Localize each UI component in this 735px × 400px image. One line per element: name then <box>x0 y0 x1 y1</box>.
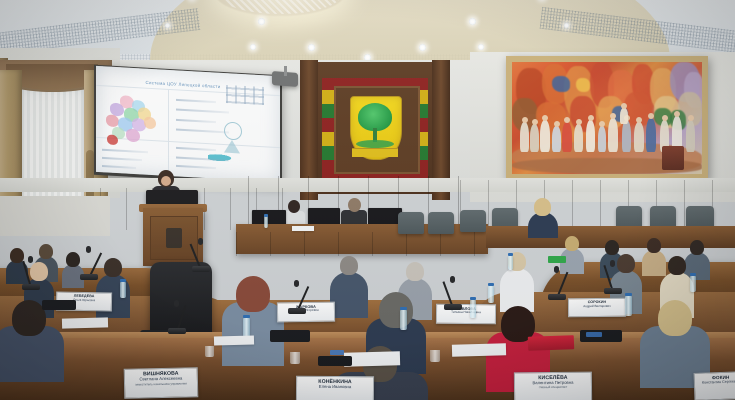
water-bottle <box>120 282 126 298</box>
desk-microphone <box>554 266 559 273</box>
nameplate: ВИШНЯКОВА Светлана Алексеевна заместител… <box>124 367 199 399</box>
delegate-head <box>605 240 619 255</box>
painted-figure-head <box>522 117 528 123</box>
office-chair <box>460 210 486 232</box>
painted-figure-head <box>636 117 642 123</box>
document-sheet <box>292 226 314 231</box>
painted-figure <box>574 124 583 152</box>
tablet-device <box>42 300 76 310</box>
document-sheet <box>214 335 254 345</box>
bottle-cap <box>400 307 407 310</box>
painted-figure-head <box>599 121 605 127</box>
delegate-head <box>236 276 270 312</box>
delegate-head <box>565 236 579 251</box>
nameplate: ФОКИН Константин Сергеевич <box>694 371 735 400</box>
painted-figure-head <box>662 115 668 121</box>
desk-microphone <box>28 256 33 263</box>
painted-figure-head <box>542 115 548 121</box>
bottle-cap <box>470 297 476 300</box>
shield-scroll <box>352 148 398 157</box>
microphone-base <box>168 328 186 334</box>
map-region <box>106 114 119 127</box>
document-sheet <box>62 317 108 328</box>
map-region <box>126 129 140 143</box>
delegate-head <box>66 252 80 267</box>
delegate-head <box>379 292 413 328</box>
microphone-base <box>288 308 306 314</box>
painted-figure-head <box>576 119 582 125</box>
tablet-device <box>318 356 352 366</box>
document-sheet <box>452 343 506 356</box>
desk-microphone <box>86 246 91 253</box>
delegate-torso <box>330 272 368 318</box>
painted-figure <box>520 122 529 152</box>
office-chair <box>650 206 676 228</box>
presidium-person-left-head <box>288 200 300 213</box>
painted-figure <box>598 126 606 152</box>
linden-tree-crown-icon <box>358 103 392 131</box>
map-region <box>107 134 118 145</box>
microphone-base <box>192 266 210 272</box>
office-chair <box>428 212 454 234</box>
regional-map-diagram <box>104 92 164 147</box>
delegate-head <box>617 254 635 273</box>
podium-emblem <box>166 228 182 248</box>
painted-figure-head <box>564 117 570 123</box>
bottle-cap <box>508 253 513 256</box>
water-bottle <box>264 216 268 228</box>
painted-figure-head <box>554 121 560 127</box>
delegate-head <box>104 258 122 277</box>
desk-microphone <box>450 276 455 283</box>
microphone-base <box>548 294 566 300</box>
painted-figure <box>634 122 644 152</box>
drinking-glass <box>430 350 440 362</box>
conference-hall-photo: Система ЦОУ Липецкой области <box>0 0 735 400</box>
painted-figure <box>646 118 656 152</box>
projector-mount <box>284 66 287 76</box>
delegate-head <box>658 300 692 336</box>
painted-figure <box>562 122 572 152</box>
abstract-expressionist-mural <box>512 62 702 174</box>
desk-microphone <box>198 238 203 245</box>
paint-stroke <box>552 76 570 92</box>
delegate-head <box>340 256 358 275</box>
icon-grid <box>226 85 264 105</box>
painted-figure <box>622 120 631 152</box>
painted-figure-head <box>610 113 616 119</box>
painted-figure <box>540 120 550 152</box>
green-folder <box>548 256 566 263</box>
delegate-head <box>406 262 424 281</box>
painted-figure-head <box>588 115 594 121</box>
office-chair <box>398 212 424 234</box>
delegate-head <box>12 300 46 336</box>
drinking-glass <box>205 346 214 357</box>
microphone-base <box>444 304 462 310</box>
microphone-base <box>22 284 40 290</box>
painted-figure-head <box>648 113 654 119</box>
drinking-glass <box>290 352 300 364</box>
podium-monitor <box>146 190 198 205</box>
delegate-head <box>30 262 48 281</box>
delegate-head <box>647 238 661 253</box>
slide-divider-vert <box>168 90 169 178</box>
delegate-head <box>690 240 704 255</box>
painted-figure <box>586 120 595 152</box>
office-chair <box>686 206 714 228</box>
painted-figure <box>686 120 695 152</box>
painted-figure-head <box>674 111 680 117</box>
water-bottle <box>488 286 494 303</box>
bottle-cap <box>625 293 632 296</box>
painted-figure-head <box>688 115 694 121</box>
bottle-cap <box>690 273 696 276</box>
tablet-screen-glow <box>586 332 602 337</box>
desk-microphone <box>610 260 615 267</box>
painted-figure-head <box>621 103 627 109</box>
tablet-device <box>270 330 310 342</box>
water-bottle <box>400 310 407 330</box>
presenter-face <box>161 176 171 186</box>
painted-figure <box>608 118 618 152</box>
left-lower-wall <box>0 196 110 236</box>
nameplate: ЖАРКОВА Марина Игоревна <box>277 302 335 323</box>
delegate-head <box>39 244 53 259</box>
painted-figure <box>552 126 561 152</box>
delegate-head <box>534 198 551 216</box>
map-region <box>144 117 156 130</box>
nameplate: СОРОКИН Андрей Викторович <box>568 298 626 318</box>
painted-figure <box>620 108 628 124</box>
bottle-cap <box>264 214 268 217</box>
painted-figure <box>530 124 539 152</box>
document-sheet <box>344 351 400 366</box>
microphone-base <box>604 288 622 294</box>
tablet-screen-glow <box>330 350 344 355</box>
delegate-head <box>668 256 686 275</box>
tree-ground-icon <box>356 140 394 148</box>
water-bottle <box>470 300 476 318</box>
red-folder <box>528 335 574 351</box>
nameplate: КОНЁНКИНА Елена Ивановна <box>296 376 374 400</box>
painted-figure-head <box>532 119 538 125</box>
water-bottle <box>690 276 696 292</box>
presidium-person-right-head <box>348 198 361 212</box>
paint-stroke <box>576 78 590 92</box>
presidium-table-front <box>236 232 488 256</box>
bottle-cap <box>120 279 126 282</box>
desk-microphone <box>294 280 299 287</box>
bottle-cap <box>488 283 494 286</box>
water-bottle <box>508 256 513 270</box>
bottle-cap <box>243 315 250 318</box>
nameplate: КИСЕЛЁВА Валентина Петровна главный спец… <box>514 372 592 400</box>
painted-vessel <box>662 146 684 170</box>
water-bottle <box>625 296 632 316</box>
microphone-base <box>80 274 98 280</box>
desk-microphone <box>174 300 179 307</box>
office-chair <box>616 206 642 228</box>
delegate-torso <box>642 250 666 276</box>
